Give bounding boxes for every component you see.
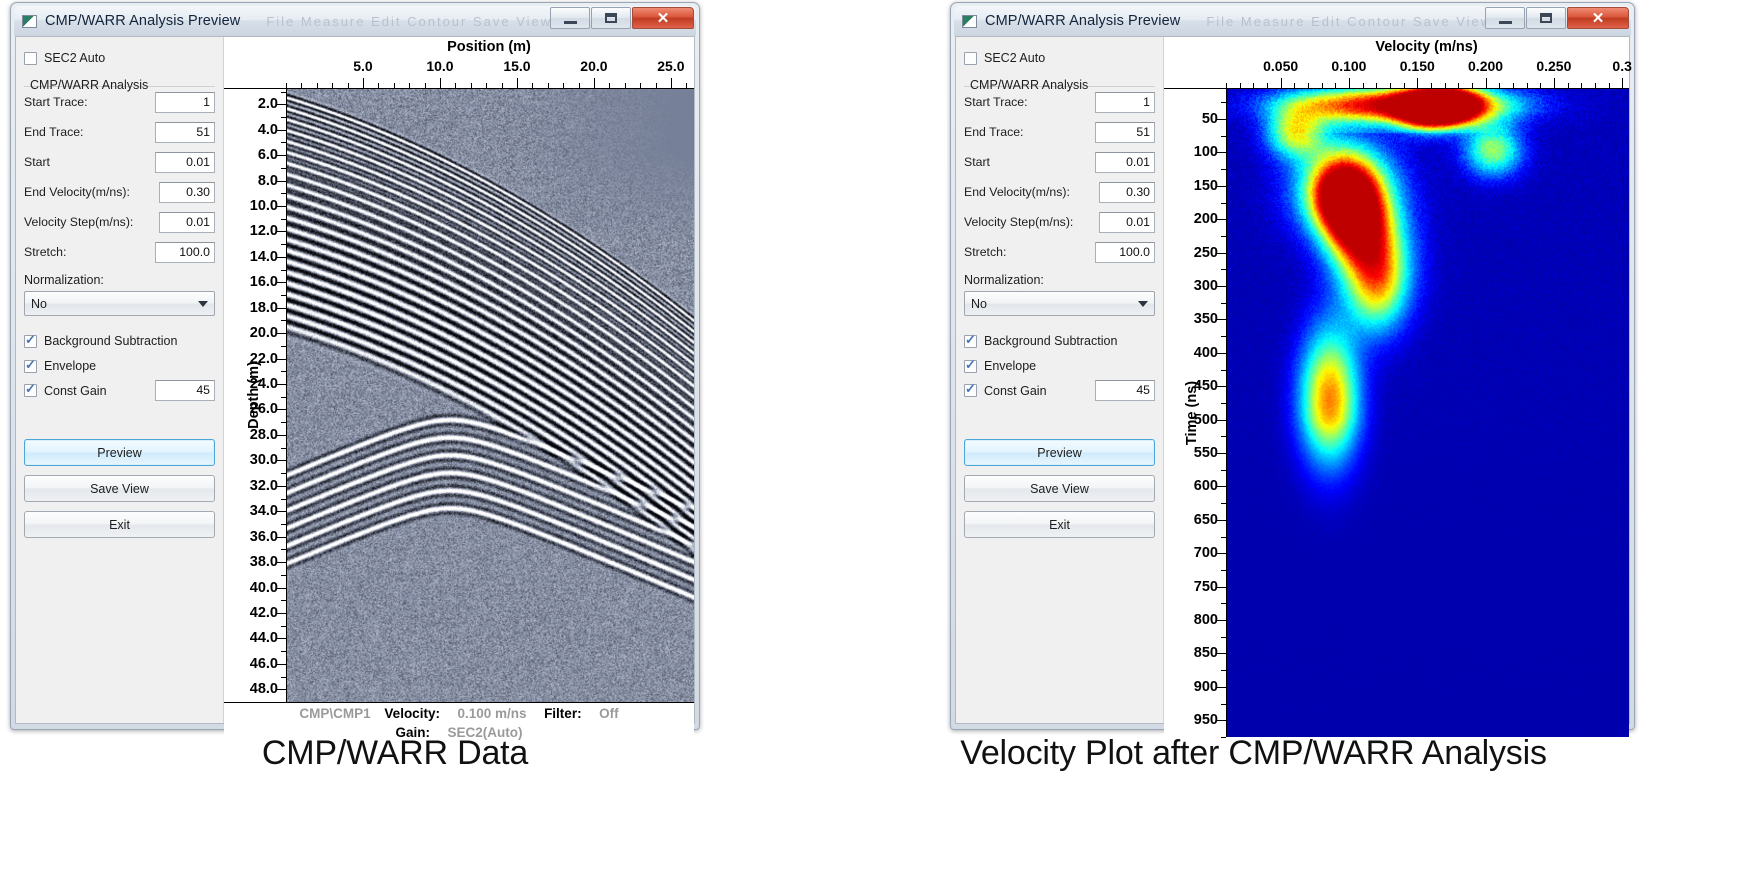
y-tick <box>1217 720 1226 721</box>
background-subtraction-label-a: Background Subtraction <box>44 334 177 348</box>
x-tick <box>594 78 595 88</box>
radargram-canvas-wrap[interactable] <box>286 89 694 702</box>
y-tick <box>277 130 286 131</box>
envelope-row-b[interactable]: Envelope <box>964 355 1155 377</box>
normalization-select-b[interactable]: No <box>964 291 1155 316</box>
x-tick <box>332 83 333 88</box>
y-tick <box>277 588 286 589</box>
y-tick <box>277 308 286 309</box>
y-tick-label: 800 <box>1194 612 1218 628</box>
y-tick <box>277 638 286 639</box>
save-view-button-a[interactable]: Save View <box>24 475 215 502</box>
y-tick <box>1217 553 1226 554</box>
x-tick <box>301 83 302 88</box>
stretch-input-b[interactable]: 100.0 <box>1095 242 1155 263</box>
close-button-b[interactable]: ✕ <box>1567 7 1629 29</box>
envelope-label-b: Envelope <box>984 359 1036 373</box>
field-label: Start Trace: <box>24 95 88 109</box>
y-tick-label: 450 <box>1194 378 1218 394</box>
y-tick-label: 900 <box>1194 679 1218 695</box>
x-tick <box>1322 83 1323 88</box>
x-tick <box>1240 83 1241 88</box>
y-tick <box>277 359 286 360</box>
end-velocity-input-a[interactable]: 0.30 <box>159 182 215 203</box>
x-tick-label: 20.0 <box>580 58 607 74</box>
y-tick-label: 100 <box>1194 144 1218 160</box>
form-panel-b: SEC2 Auto CMP/WARR Analysis Start Trace:… <box>956 37 1164 723</box>
y-tick <box>277 409 286 410</box>
y-tick-label: 18.0 <box>250 300 278 316</box>
x-tick-label: 0.250 <box>1536 58 1571 74</box>
x-tick <box>1417 78 1418 88</box>
x-tick <box>671 78 672 88</box>
y-tick <box>1217 119 1226 120</box>
y-tick <box>277 486 286 487</box>
x-tick <box>640 83 641 88</box>
envelope-checkbox-a[interactable] <box>24 360 37 373</box>
x-axis-a: Position (m) 5.010.015.020.025.0 <box>224 37 694 89</box>
status-file: CMP\CMP1 <box>299 706 370 721</box>
menubar-ghost-a: File Measure Edit Contour Save View <box>266 14 552 29</box>
screenshot-root: CMP/WARR Analysis Preview File Measure E… <box>0 0 1737 870</box>
y-tick <box>277 537 286 538</box>
y-tick-label: 20.0 <box>250 325 278 341</box>
y-tick <box>277 181 286 182</box>
window-title-b: CMP/WARR Analysis Preview <box>985 13 1180 29</box>
x-tick <box>1363 83 1364 88</box>
semblance-canvas-wrap[interactable] <box>1226 89 1629 737</box>
sec2-auto-row-a[interactable]: SEC2 Auto <box>24 47 215 69</box>
caption-left: CMP/WARR Data <box>0 734 790 773</box>
y-tick-label: 4.0 <box>258 122 278 138</box>
y-tick-label: 34.0 <box>250 503 278 519</box>
y-tick-label: 44.0 <box>250 630 278 646</box>
menubar-ghost-b: File Measure Edit Contour Save View <box>1206 14 1492 29</box>
y-tick-label: 600 <box>1194 478 1218 494</box>
field-end-trace-a: End Trace: 51 <box>24 117 215 147</box>
y-tick <box>1217 520 1226 521</box>
field-end-velocity-a: End Velocity(m/ns): 0.30 <box>24 177 215 207</box>
x-tick-label: 10.0 <box>426 58 453 74</box>
x-tick <box>1376 83 1377 88</box>
y-tick-label: 10.0 <box>250 198 278 214</box>
const-gain-label-b: Const Gain <box>984 384 1047 398</box>
field-velocity-step-b: Velocity Step(m/ns): 0.01 <box>964 207 1155 237</box>
x-tick <box>440 78 441 88</box>
start-trace-input-b[interactable]: 1 <box>1095 92 1155 113</box>
y-tick-label: 250 <box>1194 245 1218 261</box>
y-tick <box>1217 620 1226 621</box>
y-tick <box>277 333 286 334</box>
y-tick <box>277 206 286 207</box>
y-tick <box>277 664 286 665</box>
button-group-a: Preview Save View Exit <box>24 439 215 538</box>
x-tick <box>686 83 687 88</box>
envelope-label-a: Envelope <box>44 359 96 373</box>
save-view-button-b[interactable]: Save View <box>964 475 1155 502</box>
normalization-value-a: No <box>31 297 47 311</box>
background-subtraction-label-b: Background Subtraction <box>984 334 1117 348</box>
sec2-auto-checkbox-b[interactable] <box>964 52 977 65</box>
minimize-button-b[interactable] <box>1485 7 1525 29</box>
options-a: Background Subtraction Envelope Const Ga… <box>24 330 215 401</box>
y-tick-label: 700 <box>1194 545 1218 561</box>
y-tick-label: 400 <box>1194 345 1218 361</box>
y-tick <box>1217 319 1226 320</box>
y-tick-marks-b <box>1217 89 1226 737</box>
y-tick-labels-a: 2.04.06.08.010.012.014.016.018.020.022.0… <box>222 89 278 702</box>
y-tick-label: 12.0 <box>250 223 278 239</box>
const-gain-checkbox-a[interactable] <box>24 384 37 397</box>
app-icon <box>22 15 37 28</box>
caption-right: Velocity Plot after CMP/WARR Analysis <box>770 734 1737 773</box>
status-line-1: CMP\CMP1 Velocity: 0.100 m/ns Filter: Of… <box>299 704 618 723</box>
titlebar-b[interactable]: CMP/WARR Analysis Preview File Measure E… <box>954 6 1631 36</box>
x-tick <box>1431 83 1432 88</box>
x-axis-b: Velocity (m/ns) 0.0500.1000.1500.2000.25… <box>1164 37 1629 89</box>
y-tick <box>277 511 286 512</box>
sec2-auto-checkbox-a[interactable] <box>24 52 37 65</box>
field-end-velocity-b: End Velocity(m/ns): 0.30 <box>964 177 1155 207</box>
x-tick <box>1458 83 1459 88</box>
y-tick-label: 6.0 <box>258 147 278 163</box>
y-tick-label: 38.0 <box>250 554 278 570</box>
y-tick-label: 40.0 <box>250 580 278 596</box>
y-tick <box>277 257 286 258</box>
x-tick <box>1349 78 1350 88</box>
y-tick-label: 36.0 <box>250 529 278 545</box>
y-tick-label: 28.0 <box>250 427 278 443</box>
velocity-step-input-b[interactable]: 0.01 <box>1099 212 1155 233</box>
x-tick <box>1253 83 1254 88</box>
y-tick-labels-b: 5010015020025030035040045050055060065070… <box>1162 89 1218 737</box>
y-tick-label: 150 <box>1194 178 1218 194</box>
y-tick-label: 50 <box>1202 111 1218 127</box>
plot-main-b: Time (ns) 501001502002503003504004505005… <box>1164 89 1629 737</box>
x-tick <box>1499 83 1500 88</box>
fieldset-b: Start Trace: 1 End Trace: 51 Start 0.01 … <box>964 86 1155 538</box>
x-tick-label: 25.0 <box>657 58 684 74</box>
radargram-canvas[interactable] <box>287 89 694 702</box>
y-tick <box>277 613 286 614</box>
y-tick <box>1217 486 1226 487</box>
y-tick-label: 14.0 <box>250 249 278 265</box>
sec2-auto-label-b: SEC2 Auto <box>984 51 1045 65</box>
x-tick <box>317 83 318 88</box>
y-tick <box>1217 152 1226 153</box>
y-axis-b: Time (ns) 501001502002503003504004505005… <box>1164 89 1226 737</box>
x-tick-labels-b: 0.0500.1000.1500.2000.2500.3 <box>1164 58 1629 76</box>
x-tick <box>1595 83 1596 88</box>
x-tick <box>1335 83 1336 88</box>
y-tick <box>1217 587 1226 588</box>
y-tick-label: 350 <box>1194 311 1218 327</box>
x-tick <box>1267 83 1268 88</box>
plot-panel-b: Velocity (m/ns) 0.0500.1000.1500.2000.25… <box>1164 37 1629 723</box>
status-velocity-value: 0.100 m/ns <box>457 706 526 721</box>
window-controls-b: ✕ <box>1484 7 1629 29</box>
y-tick-label: 500 <box>1194 412 1218 428</box>
x-tick <box>348 83 349 88</box>
field-label: Velocity Step(m/ns): <box>24 215 133 229</box>
plot-panel-a: Position (m) 5.010.015.020.025.0 Depth (… <box>224 37 694 723</box>
field-label: End Velocity(m/ns): <box>964 185 1070 199</box>
x-tick <box>1581 83 1582 88</box>
y-tick-label: 300 <box>1194 278 1218 294</box>
y-tick-label: 650 <box>1194 512 1218 528</box>
y-tick <box>277 435 286 436</box>
x-tick-label: 0.150 <box>1400 58 1435 74</box>
y-tick <box>1217 420 1226 421</box>
x-tick <box>1568 83 1569 88</box>
preview-button-a[interactable]: Preview <box>24 439 215 466</box>
y-tick-label: 950 <box>1194 712 1218 728</box>
x-tick-label: 0.200 <box>1468 58 1503 74</box>
y-tick-label: 850 <box>1194 645 1218 661</box>
x-tick <box>656 83 657 88</box>
x-tick <box>1472 83 1473 88</box>
field-start-a: Start 0.01 <box>24 147 215 177</box>
const-gain-label-a: Const Gain <box>44 384 107 398</box>
exit-button-a[interactable]: Exit <box>24 511 215 538</box>
y-tick <box>277 231 286 232</box>
x-tick <box>517 78 518 88</box>
status-velocity-key: Velocity: <box>384 706 440 721</box>
end-trace-input-a[interactable]: 51 <box>155 122 215 143</box>
x-tick <box>625 83 626 88</box>
close-button-a[interactable]: ✕ <box>632 7 694 29</box>
x-tick <box>363 78 364 88</box>
button-group-b: Preview Save View Exit <box>964 439 1155 538</box>
status-filter-key: Filter: <box>544 706 582 721</box>
start-input-b[interactable]: 0.01 <box>1095 152 1155 173</box>
chevron-down-icon <box>198 301 208 307</box>
x-tick <box>486 83 487 88</box>
preview-button-b[interactable]: Preview <box>964 439 1155 466</box>
x-tick <box>563 83 564 88</box>
x-tick <box>502 83 503 88</box>
x-tick-labels-a: 5.010.015.020.025.0 <box>224 58 694 76</box>
normalization-select-a[interactable]: No <box>24 291 215 316</box>
maximize-button-a[interactable] <box>591 7 631 29</box>
y-tick-marks-a <box>277 89 286 702</box>
minimize-button-a[interactable] <box>550 7 590 29</box>
chevron-down-icon <box>1138 301 1148 307</box>
window-velocity-plot: CMP/WARR Analysis Preview File Measure E… <box>950 2 1635 730</box>
field-label: Velocity Step(m/ns): <box>964 215 1073 229</box>
field-start-b: Start 0.01 <box>964 147 1155 177</box>
y-tick <box>1217 219 1226 220</box>
x-tick <box>1281 78 1282 88</box>
x-axis-title-b: Velocity (m/ns) <box>1164 39 1629 55</box>
window-body-a: SEC2 Auto CMP/WARR Analysis Start Trace:… <box>15 36 695 724</box>
x-tick <box>425 83 426 88</box>
normalization-label-b: Normalization: <box>964 273 1155 287</box>
y-tick-label: 200 <box>1194 211 1218 227</box>
end-trace-input-b[interactable]: 51 <box>1095 122 1155 143</box>
start-trace-input-a[interactable]: 1 <box>155 92 215 113</box>
field-label: Stretch: <box>24 245 66 259</box>
stretch-input-a[interactable]: 100.0 <box>155 242 215 263</box>
x-tick-label: 0.050 <box>1263 58 1298 74</box>
field-label: End Velocity(m/ns): <box>24 185 130 199</box>
y-tick <box>277 104 286 105</box>
envelope-row-a[interactable]: Envelope <box>24 355 215 377</box>
x-tick <box>1308 83 1309 88</box>
status-filter-value: Off <box>599 706 619 721</box>
x-tick <box>579 83 580 88</box>
sec2-auto-row-b[interactable]: SEC2 Auto <box>964 47 1155 69</box>
normalization-label-a: Normalization: <box>24 273 215 287</box>
field-label: Start Trace: <box>964 95 1028 109</box>
background-subtraction-checkbox-a[interactable] <box>24 335 37 348</box>
y-tick <box>1217 186 1226 187</box>
maximize-button-b[interactable] <box>1526 7 1566 29</box>
x-tick <box>1445 83 1446 88</box>
titlebar-a[interactable]: CMP/WARR Analysis Preview File Measure E… <box>14 6 696 36</box>
y-tick-label: 8.0 <box>258 173 278 189</box>
y-tick <box>1217 286 1226 287</box>
x-tick <box>1540 83 1541 88</box>
window-title-a: CMP/WARR Analysis Preview <box>45 13 240 29</box>
form-panel-a: SEC2 Auto CMP/WARR Analysis Start Trace:… <box>16 37 224 723</box>
y-tick-label: 16.0 <box>250 274 278 290</box>
field-label: End Trace: <box>964 125 1023 139</box>
x-tick <box>394 83 395 88</box>
y-tick-label: 48.0 <box>250 681 278 697</box>
x-tick <box>1609 83 1610 88</box>
x-tick-label: 15.0 <box>503 58 530 74</box>
y-tick-label: 22.0 <box>250 351 278 367</box>
window-cmp-warr-data: CMP/WARR Analysis Preview File Measure E… <box>10 2 700 730</box>
exit-button-b[interactable]: Exit <box>964 511 1155 538</box>
background-subtraction-row-a[interactable]: Background Subtraction <box>24 330 215 352</box>
field-label: Start <box>24 155 50 169</box>
x-axis-title-a: Position (m) <box>224 39 694 55</box>
field-stretch-b: Stretch: 100.0 <box>964 237 1155 267</box>
y-tick-label: 750 <box>1194 579 1218 595</box>
options-b: Background Subtraction Envelope Const Ga… <box>964 330 1155 401</box>
y-tick-label: 2.0 <box>258 96 278 112</box>
y-tick <box>281 702 286 703</box>
x-tick-label: 0.100 <box>1331 58 1366 74</box>
x-tick <box>1486 78 1487 88</box>
x-tick <box>1513 83 1514 88</box>
x-tick <box>1404 83 1405 88</box>
y-tick <box>277 155 286 156</box>
semblance-canvas[interactable] <box>1227 89 1629 737</box>
y-tick-label: 42.0 <box>250 605 278 621</box>
field-label: Stretch: <box>964 245 1006 259</box>
y-tick <box>1217 253 1226 254</box>
field-label: Start <box>964 155 990 169</box>
y-tick-label: 30.0 <box>250 452 278 468</box>
x-tick <box>1294 83 1295 88</box>
x-tick <box>1527 83 1528 88</box>
velocity-step-input-a[interactable]: 0.01 <box>159 212 215 233</box>
y-tick-label: 26.0 <box>250 401 278 417</box>
y-tick-label: 32.0 <box>250 478 278 494</box>
y-tick <box>277 384 286 385</box>
field-end-trace-b: End Trace: 51 <box>964 117 1155 147</box>
y-tick <box>1217 353 1226 354</box>
x-tick <box>471 83 472 88</box>
const-gain-row-a: Const Gain 45 <box>24 380 215 401</box>
y-tick <box>1217 386 1226 387</box>
sec2-auto-label-a: SEC2 Auto <box>44 51 105 65</box>
x-tick <box>1554 78 1555 88</box>
background-subtraction-row-b[interactable]: Background Subtraction <box>964 330 1155 352</box>
x-tick <box>1390 83 1391 88</box>
field-stretch-a: Stretch: 100.0 <box>24 237 215 267</box>
x-tick <box>455 83 456 88</box>
const-gain-input-a[interactable]: 45 <box>155 380 215 401</box>
x-tick <box>1622 78 1623 88</box>
plot-main-a: Depth (m) 2.04.06.08.010.012.014.016.018… <box>224 89 694 702</box>
y-tick <box>1217 653 1226 654</box>
fieldset-a: Start Trace: 1 End Trace: 51 Start 0.01 … <box>24 86 215 538</box>
y-tick-label: 46.0 <box>250 656 278 672</box>
envelope-checkbox-b[interactable] <box>964 360 977 373</box>
y-tick-label: 550 <box>1194 445 1218 461</box>
x-tick <box>378 83 379 88</box>
window-controls-a: ✕ <box>549 7 694 29</box>
y-tick <box>277 460 286 461</box>
x-tick <box>1226 83 1227 88</box>
background-subtraction-checkbox-b[interactable] <box>964 335 977 348</box>
const-gain-input-b[interactable]: 45 <box>1095 380 1155 401</box>
x-tick <box>609 83 610 88</box>
normalization-value-b: No <box>971 297 987 311</box>
x-tick-label: 5.0 <box>353 58 372 74</box>
x-tick <box>548 83 549 88</box>
start-input-a[interactable]: 0.01 <box>155 152 215 173</box>
field-velocity-step-a: Velocity Step(m/ns): 0.01 <box>24 207 215 237</box>
x-tick <box>409 83 410 88</box>
app-icon <box>962 15 977 28</box>
const-gain-checkbox-b[interactable] <box>964 384 977 397</box>
y-tick <box>277 282 286 283</box>
x-tick-marks-a <box>224 77 694 88</box>
y-axis-a: Depth (m) 2.04.06.08.010.012.014.016.018… <box>224 89 286 702</box>
y-tick <box>277 562 286 563</box>
field-label: End Trace: <box>24 125 83 139</box>
y-tick <box>1217 687 1226 688</box>
x-tick-label: 0.3 <box>1612 58 1631 74</box>
x-tick <box>532 83 533 88</box>
window-body-b: SEC2 Auto CMP/WARR Analysis Start Trace:… <box>955 36 1630 724</box>
y-tick <box>277 689 286 690</box>
x-tick <box>286 83 287 88</box>
y-tick-label: 24.0 <box>250 376 278 392</box>
const-gain-row-b: Const Gain 45 <box>964 380 1155 401</box>
y-tick <box>1217 453 1226 454</box>
x-tick-marks-b <box>1164 77 1629 88</box>
end-velocity-input-b[interactable]: 0.30 <box>1099 182 1155 203</box>
